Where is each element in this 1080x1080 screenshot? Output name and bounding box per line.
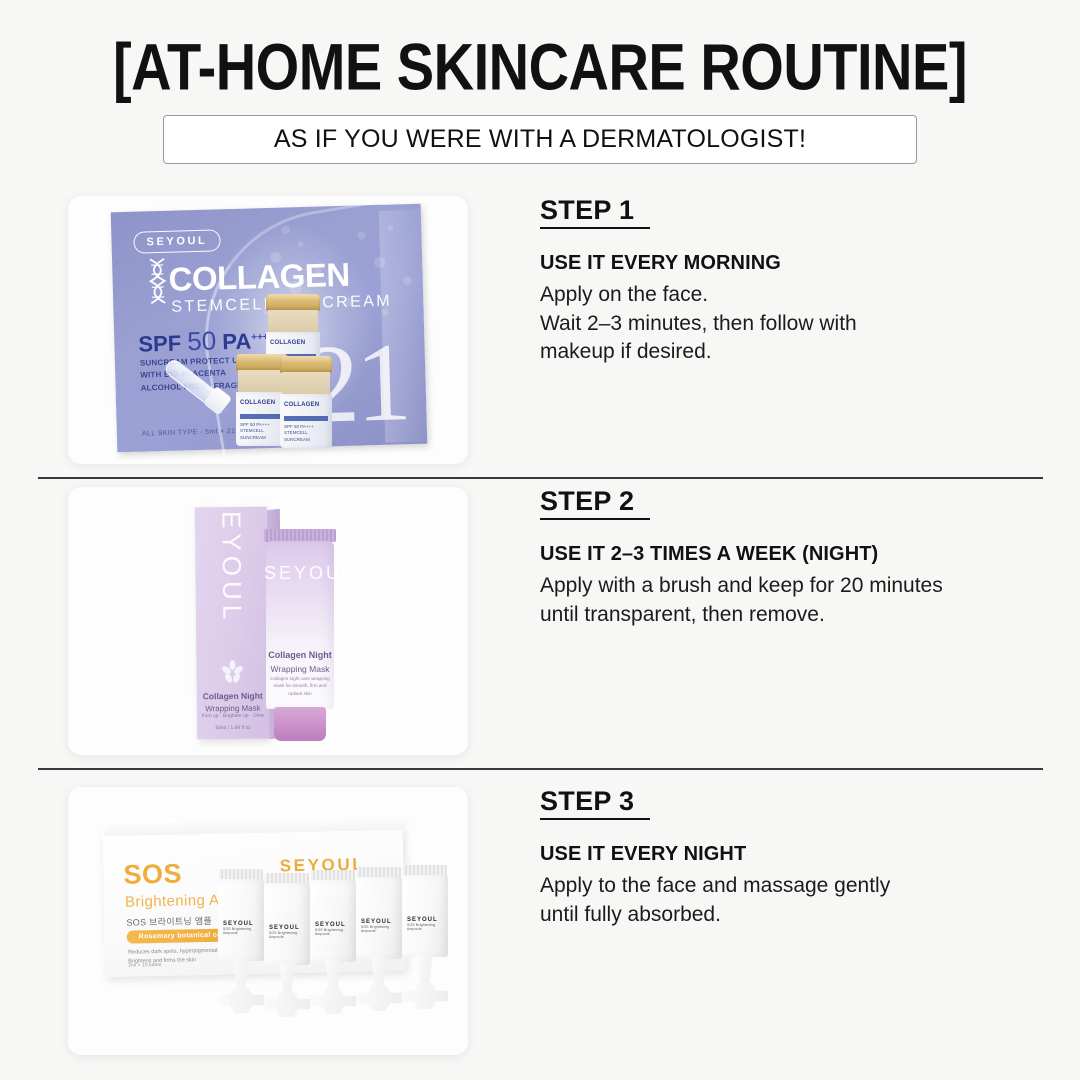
box-lid [103,814,413,837]
step-text-2: STEP 2 USE IT 2–3 TIMES A WEEK (NIGHT) A… [540,487,1040,629]
step-body-1: Apply on the face. Wait 2–3 minutes, the… [540,281,1040,367]
vial-cap [280,356,332,373]
step-row-2: SEYOUL Collagen Night Wrapping Mask Firm… [0,487,1080,757]
tube-brand-logo: SEYOUL [264,563,336,584]
ampoule-label: SEYOUL SOS Brightening Ampoule [407,917,448,931]
step-label-1: STEP 1 [540,196,650,229]
ampoule-2: SEYOUL SOS Brightening Ampoule [264,873,310,1023]
step-label-3: STEP 3 [540,787,650,820]
ampoule-neck [369,957,389,987]
ampoule-base [218,987,264,1013]
product-name-2: Collagen Night Wrapping Mask [197,690,269,716]
ampoule-label: SEYOUL SOS Brightening Ampoule [223,921,264,935]
step-row-1: SEYOUL COLLAGEN STEMCELL SUNCREAM SPF 50… [0,196,1080,466]
ampoule-body [264,883,310,965]
vial-label-bar [284,416,328,421]
box-volume-2: 50ml / 1.69 fl.oz [197,725,269,732]
step-headline-3: USE IT EVERY NIGHT [540,842,1040,866]
ampoule-body [402,875,448,957]
vial-label: COLLAGEN [240,400,284,408]
step-body-3: Apply to the face and massage gently unt… [540,872,1040,929]
vial-cap [266,294,320,311]
ampoule-base [356,985,402,1011]
box-descriptor-2: Firm up · Brighten up · Glow [197,713,269,721]
product-card-3: SEYOUL SOS Brightening Ampoule SOS 브라이트닝… [68,787,468,1055]
product-card-2: SEYOUL Collagen Night Wrapping Mask Firm… [68,487,468,755]
tube-name-line1: Collagen Night [268,650,332,660]
divider-2 [38,768,1043,770]
tube-product-name: Collagen Night Wrapping Mask [264,649,336,675]
step-body-2: Apply with a brush and keep for 20 minut… [540,572,1040,629]
night-mask-tube: SEYOUL Collagen Night Wrapping Mask Coll… [264,529,336,741]
ampoule-neck [231,959,251,989]
ampoule-label: SEYOUL SOS Brightening Ampoule [315,922,356,936]
brand-logo-2: SEYOUL [215,489,247,625]
box-volume-3: 2ml × 10 tubes [128,962,161,969]
vial-label-bar [240,414,284,419]
spf-pa: PA [222,329,252,355]
ampoule-base [402,983,448,1009]
ampoule-body [218,879,264,961]
ampoule-3: SEYOUL SOS Brightening Ampoule [310,870,356,1020]
ampoule-neck [277,963,297,993]
product-name-1: COLLAGEN [168,258,350,296]
brand-logo-1: SEYOUL [133,229,220,253]
dna-helix-icon [146,257,169,312]
tube-description: Collagen night care wrapping mask for sm… [270,675,330,697]
vial-sublabel: SPF 50 PA+++ STEMCELL SUNCREAM [284,424,328,443]
ampoule-body [356,877,402,959]
ampoule-neck [415,955,435,985]
step-label-2: STEP 2 [540,487,650,520]
step-headline-1: USE IT EVERY MORNING [540,251,1040,275]
divider-1 [38,477,1043,479]
step-text-3: STEP 3 USE IT EVERY NIGHT Apply to the f… [540,787,1040,929]
ampoule-sublabel: SOS Brightening Ampoule [315,928,356,936]
ampoule-sublabel: SOS Brightening Ampoule [407,923,448,931]
ampoule-body [310,880,356,962]
ampoule-5: SEYOUL SOS Brightening Ampoule [402,865,448,1015]
ampoule-sublabel: SOS Brightening Ampoule [361,925,402,933]
product-name-3: SOS [123,861,182,889]
spf-value: 50 [187,325,217,356]
infographic-page: [AT-HOME SKINCARE ROUTINE] AS IF YOU WER… [0,0,1080,1080]
night-mask-box: SEYOUL Collagen Night Wrapping Mask Firm… [195,507,269,740]
product-korean-name: SOS 브라이트닝 앰플 [126,914,212,929]
ampoule-sublabel: SOS Brightening Ampoule [223,927,264,935]
ampoule-1: SEYOUL SOS Brightening Ampoule [218,869,264,1019]
tube-name-line2: Wrapping Mask [264,663,336,676]
product-name-2-line1: Collagen Night [203,691,263,702]
ampoule-base [264,991,310,1017]
ampoule-sublabel: SOS Brightening Ampoule [269,931,310,939]
step-text-1: STEP 1 USE IT EVERY MORNING Apply on the… [540,196,1040,367]
subtitle-box: AS IF YOU WERE WITH A DERMATOLOGIST! [163,115,917,164]
vial-label: COLLAGEN [284,402,328,410]
vial-3: COLLAGEN SPF 50 PA+++ STEMCELL SUNCREAM [280,356,332,448]
step-headline-2: USE IT 2–3 TIMES A WEEK (NIGHT) [540,542,1040,566]
page-title: [AT-HOME SKINCARE ROUTINE] [0,34,1080,100]
ampoule-label: SEYOUL SOS Brightening Ampoule [269,925,310,939]
ampoule-label: SEYOUL SOS Brightening Ampoule [361,919,402,933]
tube-cap [274,707,326,741]
step-row-3: SEYOUL SOS Brightening Ampoule SOS 브라이트닝… [0,787,1080,1057]
product-card-1: SEYOUL COLLAGEN STEMCELL SUNCREAM SPF 50… [68,196,468,464]
subtitle-text: AS IF YOU WERE WITH A DERMATOLOGIST! [274,125,806,154]
flower-icon [219,659,245,685]
ampoule-4: SEYOUL SOS Brightening Ampoule [356,867,402,1017]
ampoule-base [310,988,356,1014]
vial-label: COLLAGEN [270,340,316,348]
vial-sublabel: SPF 50 PA+++ STEMCELL SUNCREAM [240,422,284,441]
ampoule-neck [323,960,343,990]
